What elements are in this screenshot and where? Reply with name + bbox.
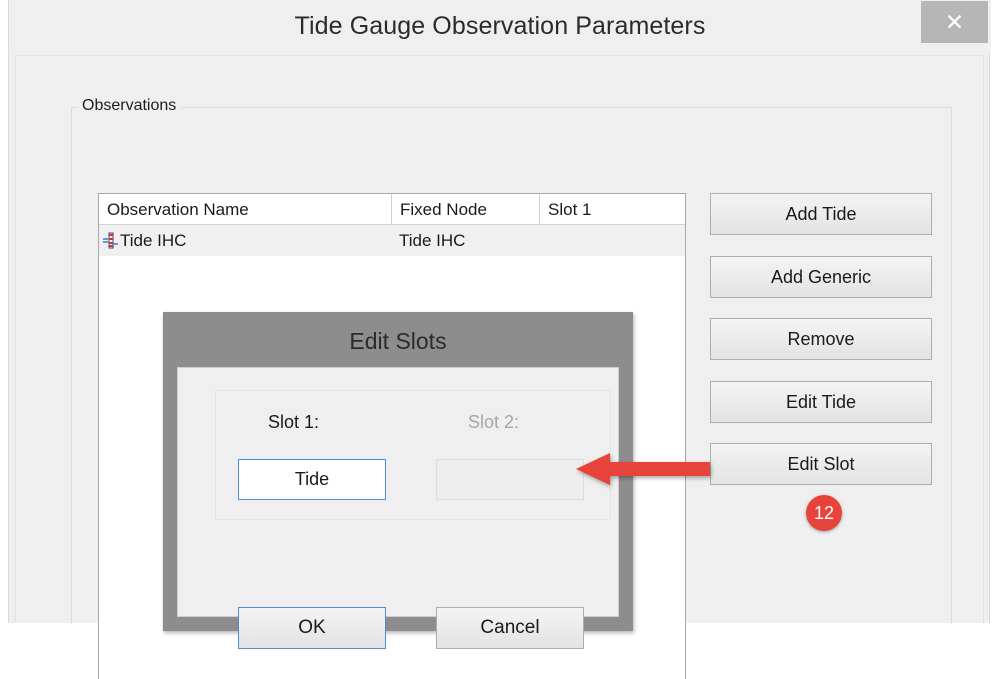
add-tide-button[interactable]: Add Tide: [710, 193, 932, 235]
step-badge: 12: [806, 495, 842, 531]
annotation-arrow-icon: [576, 452, 710, 486]
table-header-row: Observation Name Fixed Node Slot 1: [99, 194, 685, 225]
client-panel: Observations Observation Name Fixed Node…: [15, 55, 984, 623]
tide-gauge-icon: [103, 232, 118, 249]
edit-slots-title: Edit Slots: [163, 328, 633, 355]
edit-slots-dialog: Edit Slots Slot 1: Slot 2: Tide OK Cance…: [163, 312, 633, 631]
observations-groupbox-label: Observations: [78, 97, 182, 115]
column-header-slot-1[interactable]: Slot 1: [539, 194, 685, 225]
ok-button[interactable]: OK: [238, 607, 386, 649]
slot-2-label: Slot 2:: [468, 412, 519, 433]
cell-fixed-node: Tide IHC: [391, 225, 539, 256]
cell-observation-name-text: Tide IHC: [120, 231, 186, 251]
title-bar: Tide Gauge Observation Parameters ✕: [9, 0, 991, 54]
edit-slots-body: Slot 1: Slot 2: Tide OK Cancel: [177, 367, 619, 617]
column-header-observation-name[interactable]: Observation Name: [99, 194, 391, 225]
slot-1-label: Slot 1:: [268, 412, 319, 433]
cell-observation-name: Tide IHC: [99, 225, 391, 256]
cell-slot-1: [539, 225, 685, 256]
page-title: Tide Gauge Observation Parameters: [9, 12, 991, 41]
edit-tide-button[interactable]: Edit Tide: [710, 381, 932, 423]
remove-button[interactable]: Remove: [710, 318, 932, 360]
edit-slot-button[interactable]: Edit Slot: [710, 443, 932, 485]
slots-groupbox: [215, 390, 611, 520]
dialog-window: Tide Gauge Observation Parameters ✕ Obse…: [8, 0, 990, 623]
table-row[interactable]: Tide IHC Tide IHC: [99, 225, 685, 256]
slot-1-input[interactable]: Tide: [238, 459, 386, 500]
column-header-fixed-node[interactable]: Fixed Node: [391, 194, 539, 225]
cancel-button[interactable]: Cancel: [436, 607, 584, 649]
slot-2-input: [436, 459, 584, 500]
close-button[interactable]: ✕: [921, 1, 988, 43]
add-generic-button[interactable]: Add Generic: [710, 256, 932, 298]
close-icon: ✕: [921, 1, 988, 43]
